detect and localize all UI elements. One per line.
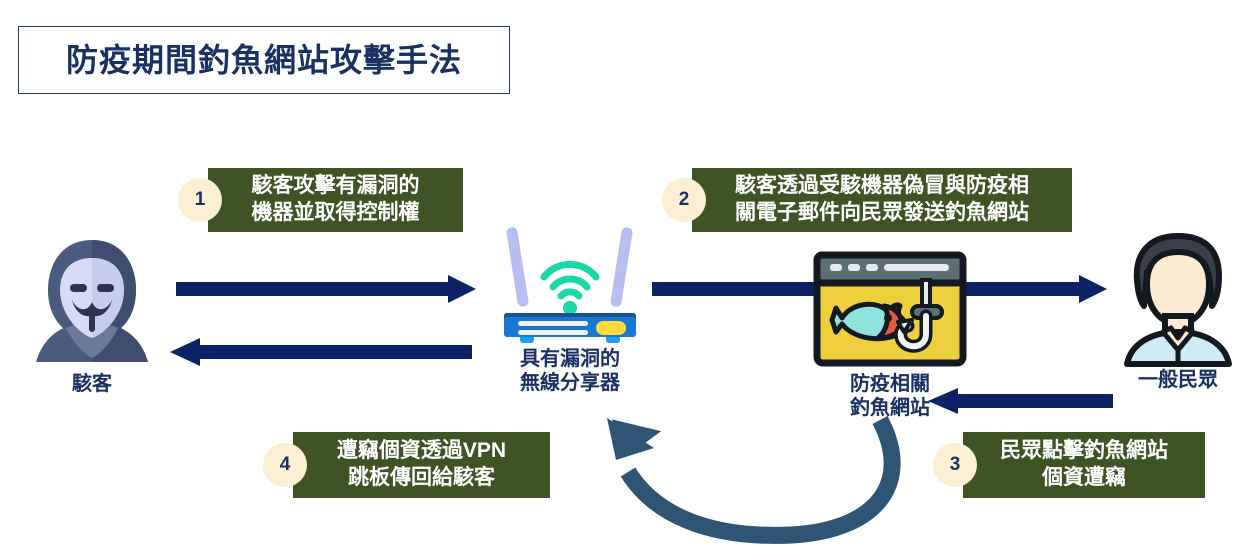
- step-text-1: 駭客攻擊有漏洞的 機器並取得控制權: [208, 168, 463, 232]
- wireless-router-icon: [492, 225, 648, 343]
- step-callout-1[interactable]: 1 駭客攻擊有漏洞的 機器並取得控制權: [178, 168, 463, 232]
- page-title: 防疫期間釣魚網站攻擊手法: [66, 44, 462, 76]
- node-router: 具有漏洞的 無線分享器: [470, 225, 670, 395]
- node-hacker-label: 駭客: [72, 372, 112, 396]
- arrow-router-to-hacker: [170, 338, 472, 366]
- node-hacker: 駭客: [12, 238, 172, 396]
- node-router-label: 具有漏洞的 無線分享器: [520, 347, 620, 395]
- step-badge-2: 2: [662, 178, 706, 222]
- diagram-title-box: 防疫期間釣魚網站攻擊手法: [18, 26, 510, 94]
- diagram-canvas: 防疫期間釣魚網站攻擊手法: [0, 0, 1252, 545]
- citizen-icon: [1117, 232, 1239, 364]
- step-badge-4: 4: [263, 443, 307, 487]
- step-text-2: 駭客透過受駭機器偽冒與防疫相 關電子郵件向民眾發送釣魚網站: [692, 168, 1072, 232]
- step-text-3: 民眾點擊釣魚網站 個資遭竊: [963, 432, 1205, 498]
- step-callout-2[interactable]: 2 駭客透過受駭機器偽冒與防疫相 關電子郵件向民眾發送釣魚網站: [662, 168, 1072, 232]
- step-callout-4[interactable]: 4 遭竊個資透過VPN 跳板傳回給駭客: [263, 432, 550, 498]
- hacker-icon: [26, 238, 158, 368]
- step-badge-1: 1: [178, 178, 222, 222]
- step-text-4: 遭竊個資透過VPN 跳板傳回給駭客: [293, 432, 550, 498]
- node-citizen-label: 一般民眾: [1138, 368, 1218, 392]
- arrow-phishing-to-router-curve: [580, 418, 920, 543]
- step-badge-3: 3: [933, 443, 977, 487]
- arrow-hacker-to-router: [176, 275, 476, 303]
- node-citizen: 一般民眾: [1108, 232, 1248, 392]
- node-phishing-site: 防疫相關 釣魚網站: [800, 250, 980, 420]
- phishing-website-icon: [812, 250, 968, 368]
- step-callout-3[interactable]: 3 民眾點擊釣魚網站 個資遭竊: [933, 432, 1205, 498]
- node-phishing-site-label: 防疫相關 釣魚網站: [850, 372, 930, 420]
